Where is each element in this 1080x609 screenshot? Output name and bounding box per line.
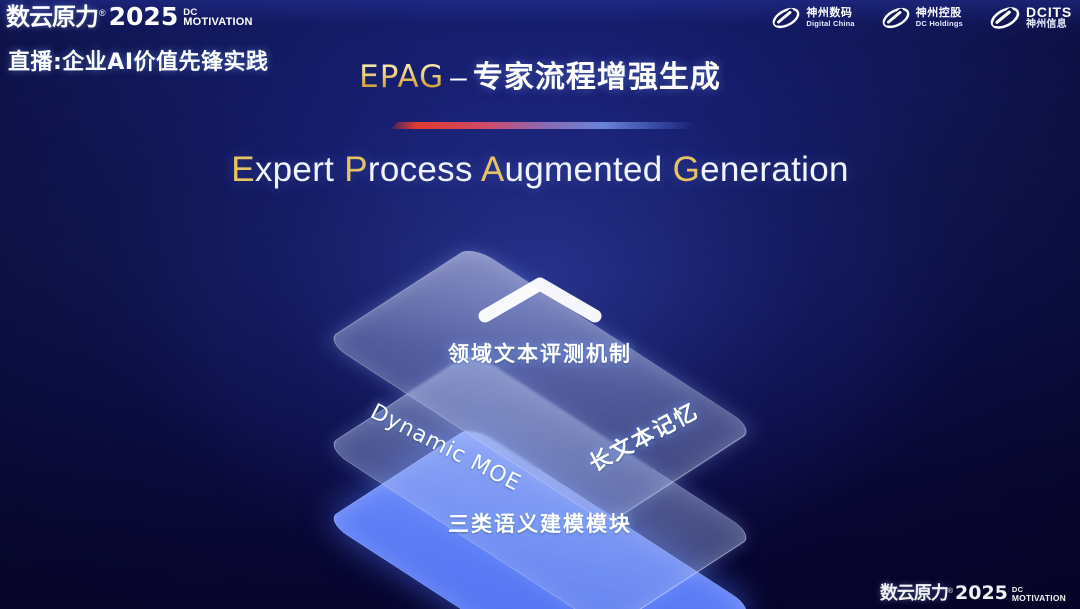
presentation-slide: 数云原力 ® 2025 DC MOTIVATION 直播:企业AI价值先锋实践 … — [0, 0, 1080, 609]
brand-logo-motivation: MOTIVATION — [183, 17, 252, 28]
partner-logo-2: DCITS 神州信息 — [989, 5, 1072, 31]
subtitle-part-5: ugmented — [505, 150, 673, 189]
live-broadcast-label: 直播:企业AI价值先锋实践 — [8, 44, 269, 76]
watermark-chinese: 数云原力 — [880, 585, 948, 603]
watermark-motivation: MOTIVATION — [1012, 594, 1066, 603]
subtitle-part-0: E — [231, 150, 255, 189]
chevron-up-icon — [475, 272, 605, 326]
title-acronym: EPAG — [359, 59, 444, 95]
brand-logo-registered: ® — [99, 9, 106, 18]
title-divider — [385, 122, 695, 129]
subtitle-part-4: A — [481, 150, 505, 189]
slide-subtitle: Expert Process Augmented Generation — [0, 150, 1080, 190]
subtitle-part-1: xpert — [255, 150, 344, 189]
partner-logos: 神州数码 Digital China 神州控股 DC Holdings — [771, 5, 1072, 31]
subtitle-part-3: rocess — [368, 150, 481, 189]
brand-logo-chinese: 数云原力 — [6, 5, 98, 29]
diagram-layer-bottom-label: 三类语义建模模块 — [448, 508, 632, 538]
subtitle-part-6: G — [673, 150, 701, 189]
partner-logo-2-text: DCITS 神州信息 — [1026, 5, 1072, 30]
watermark-dc-motivation: DC MOTIVATION — [1012, 586, 1066, 602]
swoosh-icon — [881, 6, 911, 30]
brand-logo: 数云原力 ® 2025 DC MOTIVATION — [6, 4, 253, 29]
title-dash: – — [444, 61, 473, 94]
partner-logo-1: 神州控股 DC Holdings — [881, 6, 963, 30]
watermark-logo: 数云原力 ® 2025 DC MOTIVATION — [880, 584, 1066, 603]
partner-1-en: DC Holdings — [916, 20, 963, 28]
title-chinese: 专家流程增强生成 — [473, 60, 721, 95]
subtitle-part-7: eneration — [700, 150, 849, 189]
brand-logo-year: 2025 — [109, 4, 179, 29]
watermark-registered: ® — [948, 588, 953, 595]
swoosh-icon — [771, 6, 801, 30]
brand-logo-dc-motivation: DC MOTIVATION — [183, 8, 252, 29]
partner-logo-0-text: 神州数码 Digital China — [806, 8, 854, 27]
diagram-layer-top-label: 领域文本评测机制 — [448, 338, 632, 368]
partner-logo-1-text: 神州控股 DC Holdings — [916, 8, 963, 27]
partner-2-cn: DCITS — [1026, 5, 1072, 20]
partner-2-en: 神州信息 — [1026, 20, 1072, 31]
watermark-year: 2025 — [955, 584, 1008, 603]
partner-0-en: Digital China — [806, 20, 854, 28]
swoosh-icon — [989, 5, 1021, 31]
partner-logo-0: 神州数码 Digital China — [771, 6, 854, 30]
subtitle-part-2: P — [344, 150, 368, 189]
